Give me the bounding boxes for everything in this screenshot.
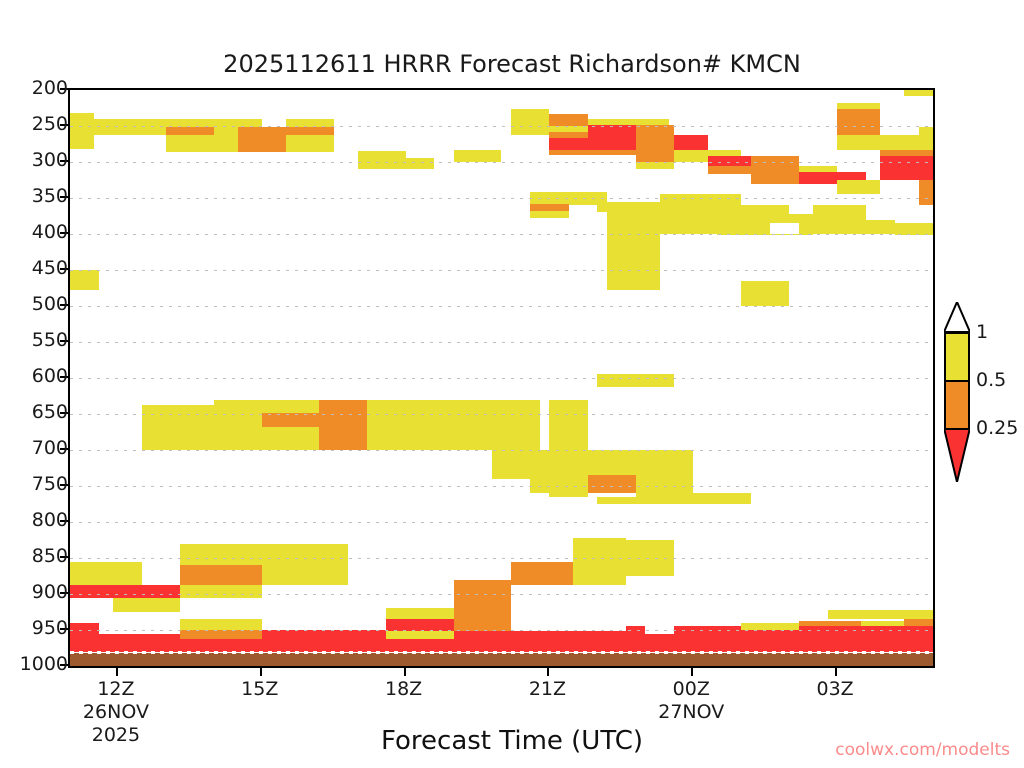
x-tick-label: 12Z [97,678,134,700]
colorbar-top-arrow [944,302,970,332]
gridline [70,306,933,307]
y-tick-label: 950 [16,617,68,639]
heatmap-cell [286,135,334,152]
y-tick-label: 300 [16,149,68,171]
x-tick-label: 18Z [385,678,422,700]
colorbar-tick [944,380,970,382]
heatmap-cell [286,127,334,134]
heatmap-cell [880,135,918,150]
x-tick-date-label: 27NOV [658,701,724,723]
heatmap-cell [549,138,635,150]
heatmap-cell [813,205,866,219]
heatmap-cell [166,135,238,152]
y-tick-label: 1000 [16,653,68,675]
y-tick-label: 400 [16,221,68,243]
y-tick-label: 550 [16,329,68,351]
heatmap-cell [70,562,94,586]
heatmap-cell [492,400,540,450]
heatmap-cell [751,174,799,183]
heatmap-cell [626,562,674,576]
x-tick-mark [835,668,837,676]
heatmap-cell [636,125,674,162]
gridline [70,522,933,523]
y-tick-label: 500 [16,293,68,315]
heatmap-cell [741,630,799,652]
heatmap-cell [607,212,660,223]
heatmap-cell [837,103,880,109]
heatmap-cell [386,631,453,638]
heatmap-cell [113,598,180,612]
heatmap-cell [880,150,933,156]
gridline [70,414,933,415]
heatmap-cell [919,127,933,149]
gridline [70,162,933,163]
heatmap-cell [99,634,181,652]
gridline [70,378,933,379]
x-tick-mark [116,668,118,676]
heatmap-cell [674,493,751,504]
y-tick-label: 700 [16,437,68,459]
heatmap-cell [919,180,933,205]
heatmap-cell [597,202,659,213]
y-tick-label: 450 [16,257,68,279]
heatmap-cell [238,127,286,134]
heatmap-cell [319,400,367,436]
y-tick-label: 850 [16,545,68,567]
page-title: 2025112611 HRRR Forecast Richardson# KMC… [0,50,1024,78]
heatmap-cell [607,263,660,290]
gridline [70,126,933,127]
plot-area [68,88,935,668]
terrain-band [70,653,933,666]
heatmap-cell [708,156,751,165]
heatmap-cell [70,270,99,290]
heatmap-cell [837,180,880,194]
heatmap-cell [180,585,262,597]
gridline [70,450,933,451]
heatmap-cell [530,204,568,211]
heatmap-cell [454,631,627,651]
x-tick-mark [404,668,406,676]
heatmap-cell [511,109,549,135]
heatmap-cell [94,585,180,597]
heatmap-cell [708,166,751,175]
x-tick-mark [691,668,693,676]
colorbar-tick [944,332,970,334]
y-tick-label: 800 [16,509,68,531]
y-tick-label: 650 [16,401,68,423]
colorbar-label: 1 [976,321,988,343]
x-tick-mark [260,668,262,676]
heatmap-cell [180,639,262,652]
heatmap-cell [166,127,214,134]
heatmap-cell [262,427,320,450]
heatmap-cell [607,235,660,262]
heatmap-cell [837,109,880,135]
y-tick-label: 600 [16,365,68,387]
gridline [70,630,933,631]
heatmap-cell [70,623,99,652]
heatmap-cell [70,585,94,597]
y-tick-label: 250 [16,113,68,135]
heatmap-cell [674,150,708,162]
heatmap-cell [904,619,933,626]
heatmap-cell [406,158,435,169]
heatmap-cell [238,135,286,152]
heatmap-cell [549,450,597,475]
heatmap-cell [813,220,895,234]
heatmap-cell [597,374,674,386]
x-tick-label: 15Z [241,678,278,700]
heatmap-cell [180,619,262,630]
colorbar-legend: 10.50.25 [938,302,1024,482]
heatmap-cell [904,90,933,96]
x-tick-date-label: 26NOV [83,701,149,723]
gridline [70,486,933,487]
heatmap-cell [799,621,861,626]
colorbar-segment [944,332,970,380]
x-tick-mark [547,668,549,676]
heatmap-cell [180,630,262,639]
heatmap-cell [597,497,674,504]
heatmap-cell [511,562,573,586]
gridline [70,594,933,595]
heatmap-cell [741,281,789,306]
colorbar-tick [944,428,970,430]
colorbar-bottom-arrow [944,428,970,482]
y-tick-label: 200 [16,77,68,99]
gridline [70,270,933,271]
gridline [70,342,933,343]
heatmap-cell [262,400,320,413]
heatmap-cell [660,214,718,234]
heatmap-cell [94,562,142,586]
heatmap-cell [142,405,214,450]
heatmap-cell [214,400,262,450]
heatmap-cell [880,156,933,180]
heatmap-cell [454,150,502,162]
heatmap-cell [674,135,708,150]
heatmap-cell [828,610,862,619]
heatmap-cell [530,211,568,218]
heatmap-cell [741,623,799,630]
heatmap-cell [770,223,799,234]
heatmap-cell [549,400,587,450]
heatmap-cell [861,610,933,619]
heatmap-cell [386,608,453,619]
heatmap-cell [549,150,635,155]
colorbar-segment [944,380,970,428]
gridline [70,234,933,235]
heatmap-cell [358,151,406,169]
heatmap-cell [262,544,348,586]
y-tick-label: 750 [16,473,68,495]
heatmap-cell [386,639,453,652]
heatmap-cell [367,400,492,450]
heatmap-cell [636,162,674,169]
terrain-surface-line [70,651,933,654]
watermark: coolwx.com/modelts [835,740,1010,760]
heatmap-cell [319,436,367,450]
heatmap-cell [837,135,880,150]
heatmap-cell [588,475,636,493]
heatmap-cell [262,630,387,652]
heatmap-cell [454,580,512,632]
heatmap-cell [708,150,742,156]
y-tick-label: 900 [16,581,68,603]
heatmap-cell [597,450,693,475]
y-tick-label: 350 [16,185,68,207]
gridline [70,198,933,199]
x-tick-label: 03Z [817,678,854,700]
x-tick-label: 21Z [529,678,566,700]
chart-root: 2025112611 HRRR Forecast Richardson# KMC… [0,0,1024,768]
heatmap-cell [180,565,262,585]
heatmap-cell [180,544,262,566]
x-tick-label: 00Z [673,678,710,700]
heatmap-cell [70,113,94,149]
heatmap-cell [573,538,626,586]
heatmap-cell [751,156,799,165]
gridline [70,558,933,559]
colorbar-label: 0.5 [976,369,1006,391]
heatmap-cell [799,166,837,172]
heatmap-cell [549,114,587,126]
colorbar-label: 0.25 [976,417,1018,439]
y-axis: 2002503003504004505005506006507007508008… [0,88,68,668]
